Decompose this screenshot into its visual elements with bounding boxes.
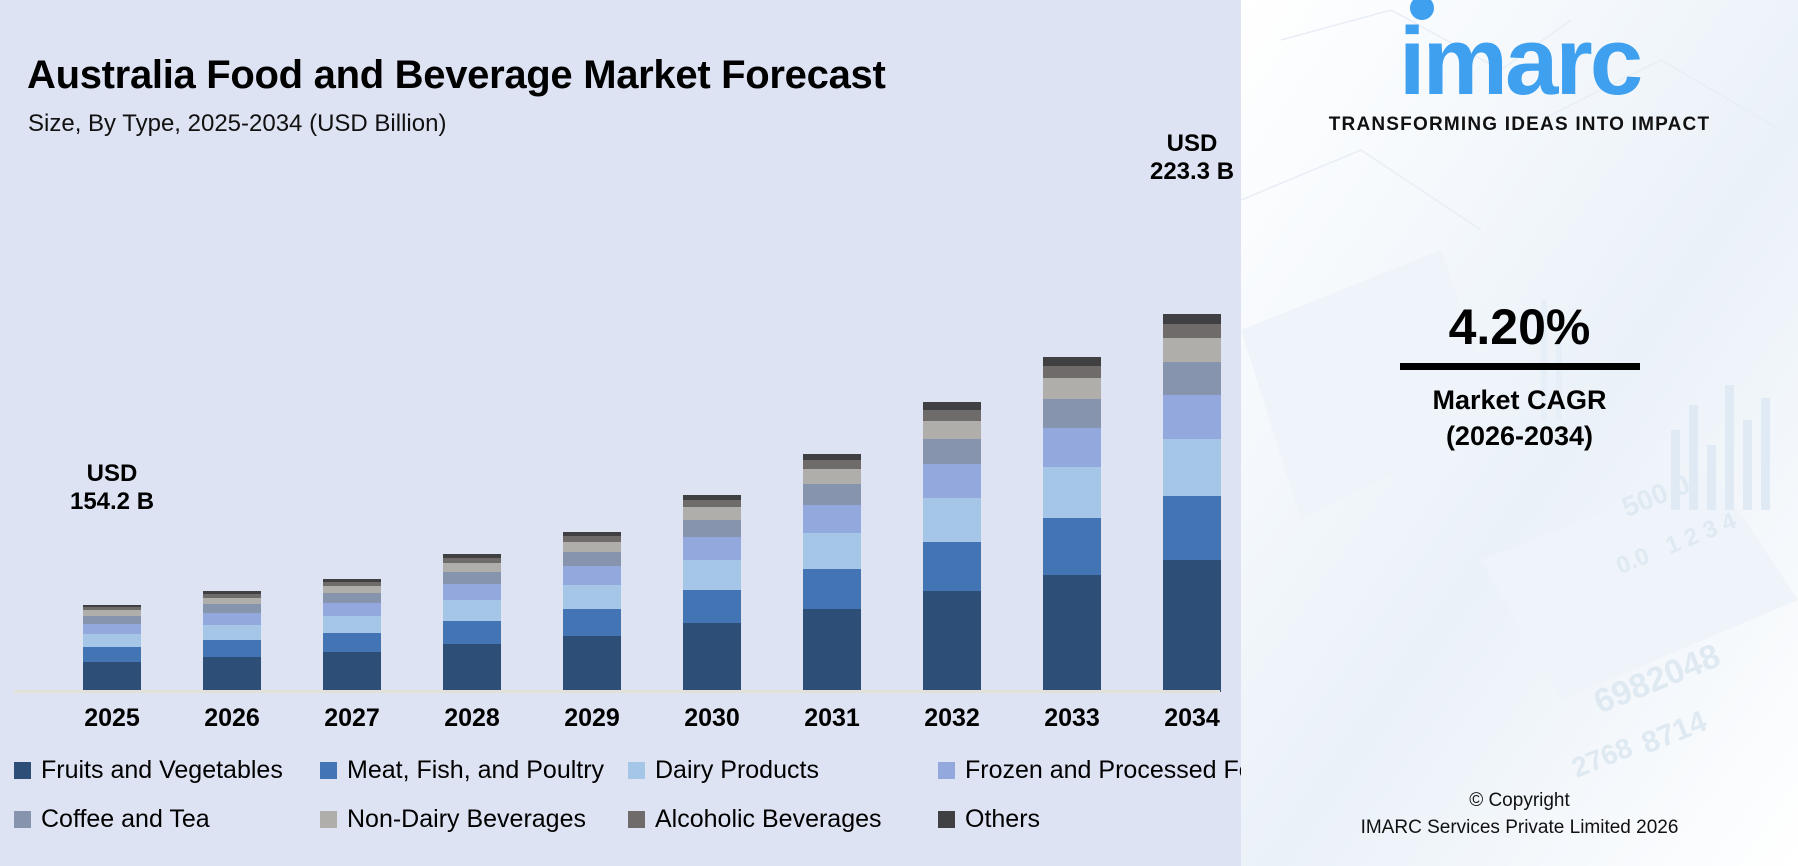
legend-label: Coffee and Tea xyxy=(41,807,210,832)
bar-segment[interactable] xyxy=(323,652,381,692)
legend-label: Fruits and Vegetables xyxy=(41,758,283,783)
cagr-label: Market CAGR xyxy=(1241,382,1798,418)
copyright-notice: © Copyright IMARC Services Private Limit… xyxy=(1241,787,1798,842)
bar-group-2029[interactable] xyxy=(532,120,652,692)
x-tick-2033: 2033 xyxy=(1012,704,1132,733)
bar-segment[interactable] xyxy=(323,616,381,633)
stacked-bar[interactable] xyxy=(203,591,261,692)
bar-segment[interactable] xyxy=(803,533,861,569)
bar-segment[interactable] xyxy=(923,402,981,410)
x-tick-2029: 2029 xyxy=(532,704,652,733)
legend-label: Others xyxy=(965,807,1040,832)
legend-item[interactable]: Non-Dairy Beverages xyxy=(320,807,586,832)
bar-segment[interactable] xyxy=(683,520,741,537)
bar-segment[interactable] xyxy=(323,593,381,603)
value-callout-first-line-1: USD xyxy=(52,460,172,488)
bar-segment[interactable] xyxy=(1043,467,1101,518)
stacked-bar[interactable] xyxy=(563,532,621,692)
bar-segment[interactable] xyxy=(1163,362,1221,395)
bar-segment[interactable] xyxy=(1163,338,1221,362)
x-tick-2028: 2028 xyxy=(412,704,532,733)
bar-segment[interactable] xyxy=(203,604,261,613)
value-callout-last-line-2: 223.3 B xyxy=(1132,158,1252,186)
imarc-logo: imarc TRANSFORMING IDEAS INTO IMPACT xyxy=(1241,14,1798,136)
stacked-bar[interactable] xyxy=(803,454,861,692)
legend-swatch-icon xyxy=(320,811,337,828)
stacked-bar[interactable] xyxy=(923,402,981,692)
bar-segment[interactable] xyxy=(83,647,141,662)
bar-segment[interactable] xyxy=(83,624,141,634)
x-tick-2027: 2027 xyxy=(292,704,412,733)
logo-wordmark: imarc xyxy=(1399,14,1640,110)
bar-group-2034[interactable] xyxy=(1132,120,1252,692)
cagr-block: 4.20% Market CAGR (2026-2034) xyxy=(1241,300,1798,455)
copyright-line-1: © Copyright xyxy=(1241,787,1798,815)
legend-swatch-icon xyxy=(320,762,337,779)
bar-segment[interactable] xyxy=(83,634,141,647)
bar-segment[interactable] xyxy=(563,566,621,585)
legend-item[interactable]: Dairy Products xyxy=(628,758,819,783)
bar-group-2033[interactable] xyxy=(1012,120,1132,692)
bar-segment[interactable] xyxy=(563,585,621,609)
legend-swatch-icon xyxy=(938,811,955,828)
bar-segment[interactable] xyxy=(323,633,381,652)
bar-segment[interactable] xyxy=(803,505,861,533)
bar-segment[interactable] xyxy=(323,603,381,616)
page-title: Australia Food and Beverage Market Forec… xyxy=(27,53,886,98)
bar-segment[interactable] xyxy=(1043,518,1101,575)
bar-segment[interactable] xyxy=(923,591,981,692)
bar-segment[interactable] xyxy=(803,460,861,469)
x-tick-2034: 2034 xyxy=(1132,704,1252,733)
bar-group-2026[interactable] xyxy=(172,120,292,692)
cagr-period: (2026-2034) xyxy=(1241,418,1798,454)
bar-segment[interactable] xyxy=(1163,395,1221,439)
x-axis-line xyxy=(14,690,1220,693)
bar-segment[interactable] xyxy=(1163,496,1221,560)
bar-segment[interactable] xyxy=(443,584,501,600)
bar-segment[interactable] xyxy=(923,439,981,464)
bar-segment[interactable] xyxy=(923,464,981,498)
bar-segment[interactable] xyxy=(443,563,501,572)
legend-swatch-icon xyxy=(14,762,31,779)
bar-segment[interactable] xyxy=(683,560,741,590)
bar-segment[interactable] xyxy=(323,586,381,593)
chart-legend: Fruits and VegetablesMeat, Fish, and Pou… xyxy=(0,758,1241,858)
value-callout-last: USD223.3 B xyxy=(1132,130,1252,187)
bar-segment[interactable] xyxy=(563,542,621,552)
bar-segment[interactable] xyxy=(803,469,861,484)
x-axis-tick-labels: 2025202620272028202920302031203220332034 xyxy=(0,704,1241,744)
stacked-bar[interactable] xyxy=(83,605,141,692)
bar-segment[interactable] xyxy=(1043,357,1101,366)
bar-segment[interactable] xyxy=(443,621,501,644)
x-tick-2031: 2031 xyxy=(772,704,892,733)
legend-label: Dairy Products xyxy=(655,758,819,783)
bar-segment[interactable] xyxy=(683,500,741,507)
bar-segment[interactable] xyxy=(1163,439,1221,496)
bar-group-2025[interactable] xyxy=(52,120,172,692)
legend-swatch-icon xyxy=(628,762,645,779)
bar-group-2030[interactable] xyxy=(652,120,772,692)
legend-item[interactable]: Fruits and Vegetables xyxy=(14,758,283,783)
bar-group-2032[interactable] xyxy=(892,120,1012,692)
bar-segment[interactable] xyxy=(443,572,501,584)
bar-group-2031[interactable] xyxy=(772,120,892,692)
legend-swatch-icon xyxy=(938,762,955,779)
bar-segment[interactable] xyxy=(803,569,861,609)
bar-segment[interactable] xyxy=(203,640,261,657)
bar-segment[interactable] xyxy=(683,537,741,560)
bar-segment[interactable] xyxy=(803,609,861,692)
bar-segment[interactable] xyxy=(203,613,261,625)
legend-item[interactable]: Alcoholic Beverages xyxy=(628,807,882,832)
chart-panel: Australia Food and Beverage Market Forec… xyxy=(0,0,1241,866)
x-tick-2025: 2025 xyxy=(52,704,172,733)
bar-segment[interactable] xyxy=(563,552,621,566)
legend-item[interactable]: Others xyxy=(938,807,1040,832)
x-tick-2030: 2030 xyxy=(652,704,772,733)
bar-segment[interactable] xyxy=(563,609,621,636)
stacked-bar[interactable] xyxy=(1163,314,1221,692)
stacked-bar-chart xyxy=(0,120,1241,692)
bar-segment[interactable] xyxy=(203,657,261,692)
bar-segment[interactable] xyxy=(923,421,981,439)
x-tick-2026: 2026 xyxy=(172,704,292,733)
legend-label: Non-Dairy Beverages xyxy=(347,807,586,832)
bar-segment[interactable] xyxy=(83,662,141,692)
bar-segment[interactable] xyxy=(83,616,141,624)
copyright-line-2: IMARC Services Private Limited 2026 xyxy=(1241,814,1798,842)
bar-segment[interactable] xyxy=(1163,324,1221,338)
bar-segment[interactable] xyxy=(1043,575,1101,692)
legend-swatch-icon xyxy=(628,811,645,828)
brand-panel: 6982048 8714 2768 500.0 0.0 1 2 3 4 imar… xyxy=(1241,0,1798,866)
bar-segment[interactable] xyxy=(1043,428,1101,467)
legend-swatch-icon xyxy=(14,811,31,828)
logo-text: imarc xyxy=(1399,8,1640,115)
bar-segment[interactable] xyxy=(803,484,861,505)
cagr-divider xyxy=(1400,363,1640,370)
bar-segment[interactable] xyxy=(443,600,501,621)
logo-tagline: TRANSFORMING IDEAS INTO IMPACT xyxy=(1241,114,1798,136)
bar-group-2027[interactable] xyxy=(292,120,412,692)
bar-group-2028[interactable] xyxy=(412,120,532,692)
value-callout-last-line-1: USD xyxy=(1132,130,1252,158)
infographic-root: Australia Food and Beverage Market Forec… xyxy=(0,0,1798,866)
bar-segment[interactable] xyxy=(1163,314,1221,324)
bar-segment[interactable] xyxy=(683,623,741,692)
bar-segment[interactable] xyxy=(683,507,741,520)
bar-segment[interactable] xyxy=(1043,366,1101,378)
bar-segment[interactable] xyxy=(923,410,981,421)
value-callout-first-line-2: 154.2 B xyxy=(52,488,172,516)
legend-item[interactable]: Meat, Fish, and Poultry xyxy=(320,758,604,783)
cagr-value: 4.20% xyxy=(1241,300,1798,355)
bar-segment[interactable] xyxy=(683,590,741,623)
bar-segment[interactable] xyxy=(1043,378,1101,399)
bar-segment[interactable] xyxy=(203,625,261,640)
legend-item[interactable]: Coffee and Tea xyxy=(14,807,210,832)
bar-segment[interactable] xyxy=(563,636,621,692)
bar-segment[interactable] xyxy=(923,498,981,542)
legend-label: Meat, Fish, and Poultry xyxy=(347,758,604,783)
legend-item[interactable]: Frozen and Processed Foods xyxy=(938,758,1293,783)
bar-segment[interactable] xyxy=(443,644,501,692)
stacked-bar[interactable] xyxy=(323,579,381,692)
legend-label: Alcoholic Beverages xyxy=(655,807,882,832)
bar-segment[interactable] xyxy=(1163,560,1221,692)
bar-segment[interactable] xyxy=(923,542,981,591)
stacked-bar[interactable] xyxy=(683,495,741,692)
bar-segment[interactable] xyxy=(1043,399,1101,428)
value-callout-first: USD154.2 B xyxy=(52,460,172,517)
stacked-bar[interactable] xyxy=(443,554,501,692)
x-tick-2032: 2032 xyxy=(892,704,1012,733)
stacked-bar[interactable] xyxy=(1043,357,1101,692)
